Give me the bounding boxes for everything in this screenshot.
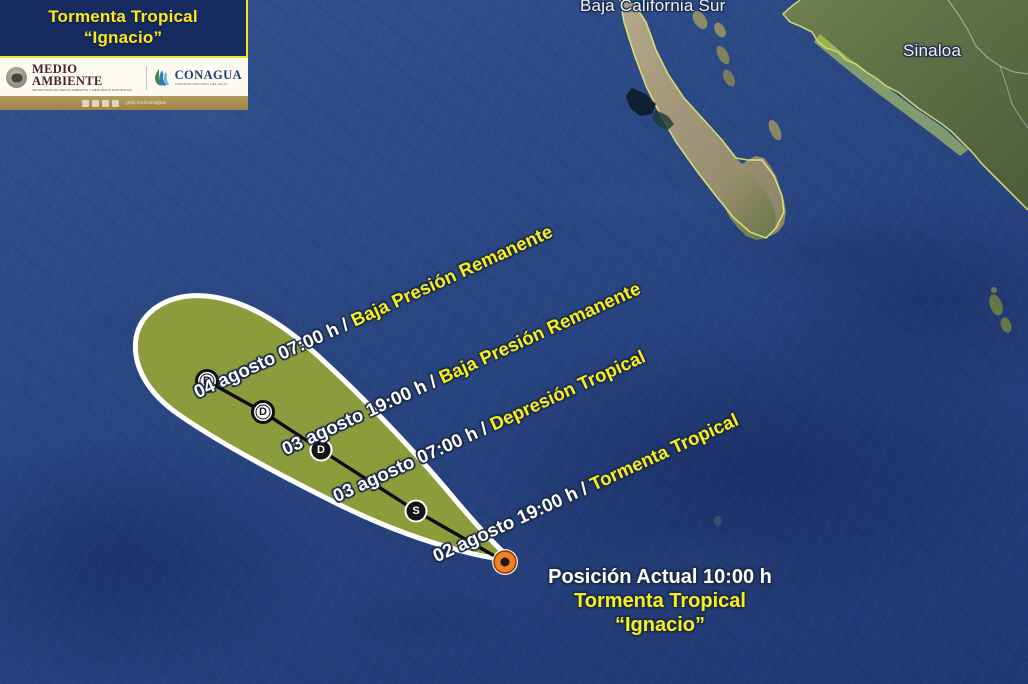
conagua-logo: CONAGUA COMISIÓN NACIONAL DEL AGUA	[153, 68, 242, 87]
youtube-icon[interactable]	[112, 100, 119, 107]
agency-logo-bar: MEDIO AMBIENTE SECRETARÍA DE MEDIO AMBIE…	[0, 58, 248, 96]
conagua-label: CONAGUA	[175, 69, 242, 82]
current-position-name: “Ignacio”	[530, 613, 790, 637]
conagua-water-drop-icon	[153, 68, 170, 87]
storm-title-line1: Tormenta Tropical	[8, 6, 238, 27]
medio-ambiente-label: MEDIO AMBIENTE	[32, 63, 140, 88]
facebook-icon[interactable]	[82, 100, 89, 107]
track-marker-02ago-1900	[406, 501, 427, 522]
medio-ambiente-sublabel: SECRETARÍA DE MEDIO AMBIENTE Y RECURSOS …	[32, 89, 140, 92]
medio-ambiente-logo: MEDIO AMBIENTE SECRETARÍA DE MEDIO AMBIE…	[6, 63, 140, 93]
current-marker-core	[501, 558, 510, 567]
logo-divider	[146, 66, 147, 90]
social-media-bar: gob.mx/conagua	[0, 96, 248, 110]
storm-title-line2: “Ignacio”	[8, 27, 238, 48]
current-position-category: Tormenta Tropical	[530, 589, 790, 613]
current-position-marker	[492, 549, 518, 575]
mexican-eagle-emblem-icon	[6, 67, 27, 88]
conagua-website-url[interactable]: gob.mx/conagua	[126, 100, 166, 106]
conagua-header-panel: Tormenta Tropical “Ignacio” MEDIO AMBIEN…	[0, 0, 248, 110]
hurricane-forecast-map: Baja California Sur Sinaloa D D D S	[0, 0, 1028, 684]
current-position-callout: Posición Actual 10:00 h Tormenta Tropica…	[530, 565, 790, 637]
track-marker-03ago-1900-inner	[256, 405, 270, 419]
current-position-time: Posición Actual 10:00 h	[530, 565, 790, 589]
instagram-icon[interactable]	[102, 100, 109, 107]
conagua-sublabel: COMISIÓN NACIONAL DEL AGUA	[175, 83, 242, 86]
storm-title-banner: Tormenta Tropical “Ignacio”	[0, 0, 248, 58]
twitter-icon[interactable]	[92, 100, 99, 107]
